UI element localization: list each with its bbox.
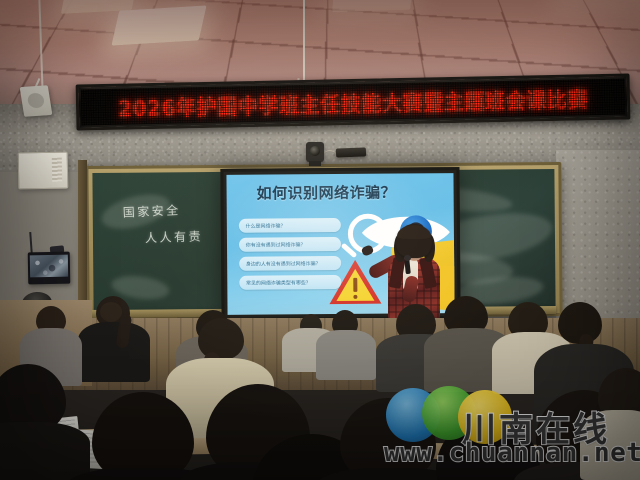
camera-mount: [309, 161, 321, 166]
led-banner-text: 2026年护国中学班主任技能大赛暨主题班会课比赛: [118, 82, 589, 122]
microphone-head: [404, 255, 411, 261]
led-banner-surface: 2026年护国中学班主任技能大赛暨主题班会课比赛: [81, 79, 626, 126]
bullet-text: 什么是网络诈骗？: [239, 222, 286, 229]
vent-grille: [52, 158, 62, 182]
student-body: [78, 322, 150, 382]
watermark-url: www.chuannan.net: [384, 438, 640, 468]
student-head: [198, 318, 244, 360]
watermark: 川南在线 www.chuannan.net: [386, 386, 640, 480]
student-body: [316, 330, 376, 380]
blackboard-text-line-1: 国家安全: [122, 201, 181, 221]
air-conditioner-unit: [18, 152, 69, 190]
teacher-hair-bangs: [397, 225, 431, 239]
camera-lens-icon: [310, 146, 320, 156]
bullet-text: 身边的人有没有遇到过网络诈骗？: [239, 260, 320, 267]
sound-bar: [336, 147, 366, 157]
list-item: 你有没有遇到过网络诈骗？: [239, 237, 341, 252]
blackboard-text-line-2: 人人有责: [145, 228, 203, 247]
list-item: 什么是网络诈骗？: [239, 218, 341, 233]
wall-speaker: [20, 85, 53, 117]
classroom-photo: 2026年护国中学班主任技能大赛暨主题班会课比赛 国家安全 人人有责: [0, 0, 640, 480]
bullet-text: 你有没有遇到过网络诈骗？: [239, 241, 306, 248]
student-body: [0, 422, 90, 480]
slide-title: 如何识别网络诈骗？: [257, 182, 397, 204]
list-item: 身边的人有没有遇到过网络诈骗？: [239, 256, 341, 271]
